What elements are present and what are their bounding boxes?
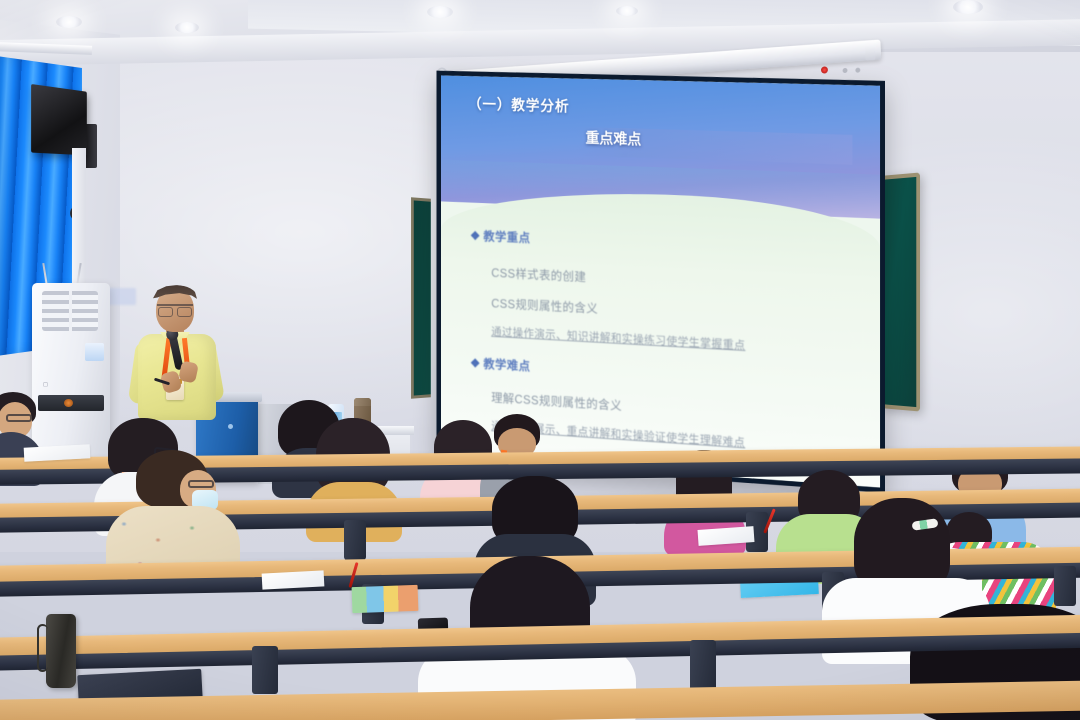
ceiling-downlight [616,6,638,16]
ac-control-panel[interactable] [38,395,104,411]
desk-leg [344,520,366,560]
ceiling-downlight [953,0,983,14]
slide-header-title: （一）教学分析 [468,93,570,116]
blackboard-left-panel [411,197,431,399]
power-led-icon [821,66,828,73]
classroom-photo: ◻ （一）教学分析 重点难点 [0,0,1080,720]
blackboard-right-panel [880,172,920,411]
handout-papers [262,570,325,589]
air-conditioner: ◻ [32,283,110,458]
glasses-icon [6,414,32,422]
ac-logo: ◻ [43,381,48,388]
slide-section-heading-1: ❖教学重点 [470,225,530,246]
section-1-heading-text: 教学重点 [483,229,530,244]
desk-leg [690,640,716,692]
slide-banner-title: 重点难点 [586,127,642,149]
slide-section-heading-2: ❖教学难点 [470,353,530,375]
screen-bracket-right [865,44,876,61]
section-2-heading-text: 教学难点 [483,358,530,374]
ceiling-downlight [427,6,453,18]
wall-speaker-icon [31,84,87,155]
water-tumbler [46,614,76,688]
teacher-figure [126,288,236,438]
teacher-glasses-icon [157,304,193,312]
color-booklet [352,585,419,613]
diamond-bullet-icon: ❖ [470,229,481,243]
ac-badge [85,343,104,361]
ceiling-downlight [56,16,82,28]
diamond-bullet-icon: ❖ [470,357,481,371]
desk-leg [1054,566,1076,606]
desk-leg [252,646,278,694]
ac-vent-divider [69,291,72,331]
roller-button[interactable] [842,68,847,73]
glasses-icon [188,480,214,488]
ceiling-downlight [175,22,199,33]
roller-button[interactable] [855,68,860,73]
